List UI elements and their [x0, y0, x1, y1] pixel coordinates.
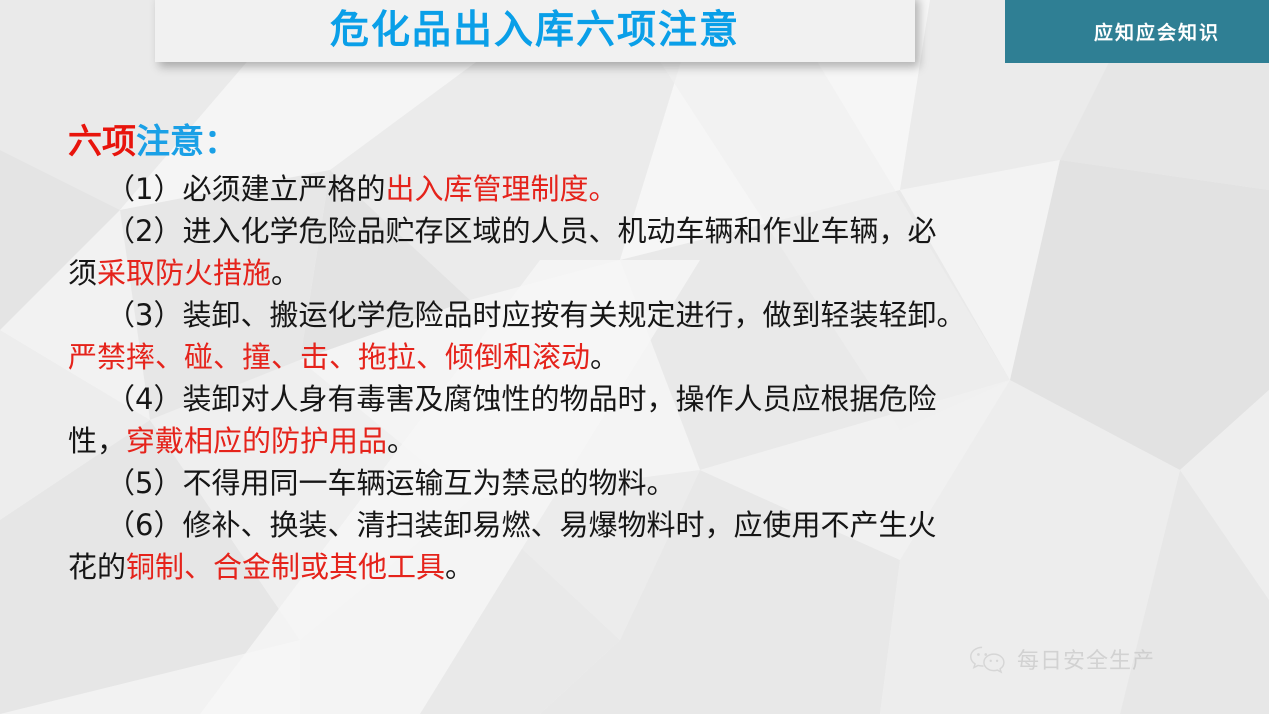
page-title: 危化品出入库六项注意: [330, 7, 740, 50]
notice-item-line: （5）不得用同一车辆运输互为禁忌的物料。: [68, 462, 1188, 504]
body-text: （1）必须建立严格的: [106, 172, 385, 206]
emphasis-text: 采取防火措施: [97, 256, 271, 290]
body-text: 。: [590, 340, 619, 374]
notice-item-line: 须采取防火措施。: [68, 252, 1188, 294]
notice-item-line: 花的铜制、合金制或其他工具。: [68, 546, 1188, 588]
body-text: 。: [445, 550, 474, 584]
corner-badge: 应知应会知识: [1005, 0, 1269, 63]
section-heading-prefix: 六项: [68, 122, 136, 162]
notice-item-line: 性，穿戴相应的防护用品。: [68, 420, 1188, 462]
slide-body: 六项注意： （1）必须建立严格的出入库管理制度。（2）进入化学危险品贮存区域的人…: [68, 122, 1188, 588]
body-text: 性，: [68, 424, 126, 458]
notice-item-line: （1）必须建立严格的出入库管理制度。: [68, 168, 1188, 210]
body-text: 花的: [68, 550, 126, 584]
emphasis-text: 严禁摔、碰、撞、击、拖拉、倾倒和滚动: [68, 340, 590, 374]
notice-item-line: （4）装卸对人身有毒害及腐蚀性的物品时，操作人员应根据危险: [68, 378, 1188, 420]
section-heading-suffix: 注意：: [136, 122, 238, 162]
body-text: （4）装卸对人身有毒害及腐蚀性的物品时，操作人员应根据危险: [106, 382, 936, 416]
body-text: （3）装卸、搬运化学危险品时应按有关规定进行，做到轻装轻卸。: [106, 298, 965, 332]
title-plaque: 危化品出入库六项注意: [155, 0, 915, 62]
body-text: （6）修补、换装、清扫装卸易燃、易爆物料时，应使用不产生火: [106, 508, 936, 542]
emphasis-text: 出入库管理制度。: [385, 172, 617, 206]
slide-canvas: 危化品出入库六项注意 应知应会知识 六项注意： （1）必须建立严格的出入库管理制…: [0, 0, 1269, 714]
emphasis-text: 铜制、合金制或其他工具: [126, 550, 445, 584]
watermark-label: 每日安全生产: [1017, 643, 1155, 675]
corner-badge-label: 应知应会知识: [1054, 18, 1220, 45]
body-text: 。: [271, 256, 300, 290]
emphasis-text: 穿戴相应的防护用品: [126, 424, 387, 458]
body-text: （5）不得用同一车辆运输互为禁忌的物料。: [106, 466, 675, 500]
notice-item-line: （2）进入化学危险品贮存区域的人员、机动车辆和作业车辆，必: [68, 210, 1188, 252]
notice-item-line: （3）装卸、搬运化学危险品时应按有关规定进行，做到轻装轻卸。: [68, 294, 1188, 336]
wechat-icon: [968, 644, 1008, 674]
body-text: 。: [387, 424, 416, 458]
body-text: （2）进入化学危险品贮存区域的人员、机动车辆和作业车辆，必: [106, 214, 936, 248]
notice-item-line: （6）修补、换装、清扫装卸易燃、易爆物料时，应使用不产生火: [68, 504, 1188, 546]
watermark: 每日安全生产: [968, 643, 1155, 675]
body-text: 须: [68, 256, 97, 290]
notice-items-list: （1）必须建立严格的出入库管理制度。（2）进入化学危险品贮存区域的人员、机动车辆…: [68, 168, 1188, 588]
notice-item-line: 严禁摔、碰、撞、击、拖拉、倾倒和滚动。: [68, 336, 1188, 378]
section-heading: 六项注意：: [68, 122, 1188, 162]
